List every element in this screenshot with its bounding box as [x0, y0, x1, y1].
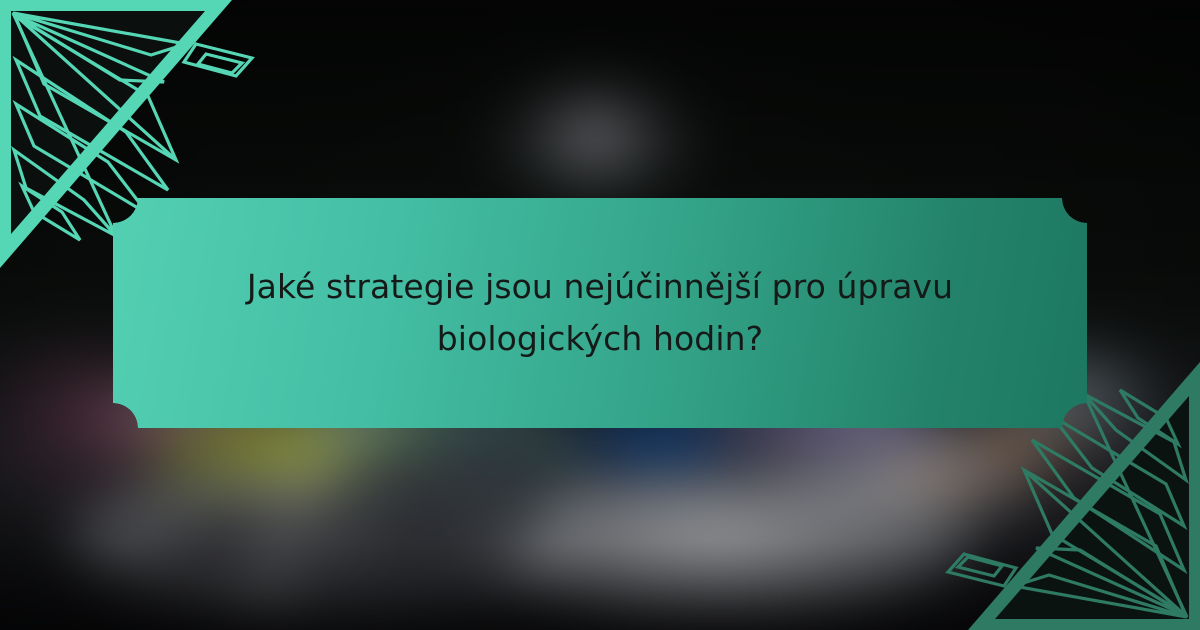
social-quote-card: Jaké strategie jsou nejúčinnější pro úpr… — [0, 0, 1200, 630]
question-banner: Jaké strategie jsou nejúčinnější pro úpr… — [113, 198, 1087, 428]
question-text: Jaké strategie jsou nejúčinnější pro úpr… — [190, 261, 1010, 365]
photo-blob-warm-tone — [860, 450, 1040, 510]
photo-blob-head-highlight — [540, 90, 650, 170]
